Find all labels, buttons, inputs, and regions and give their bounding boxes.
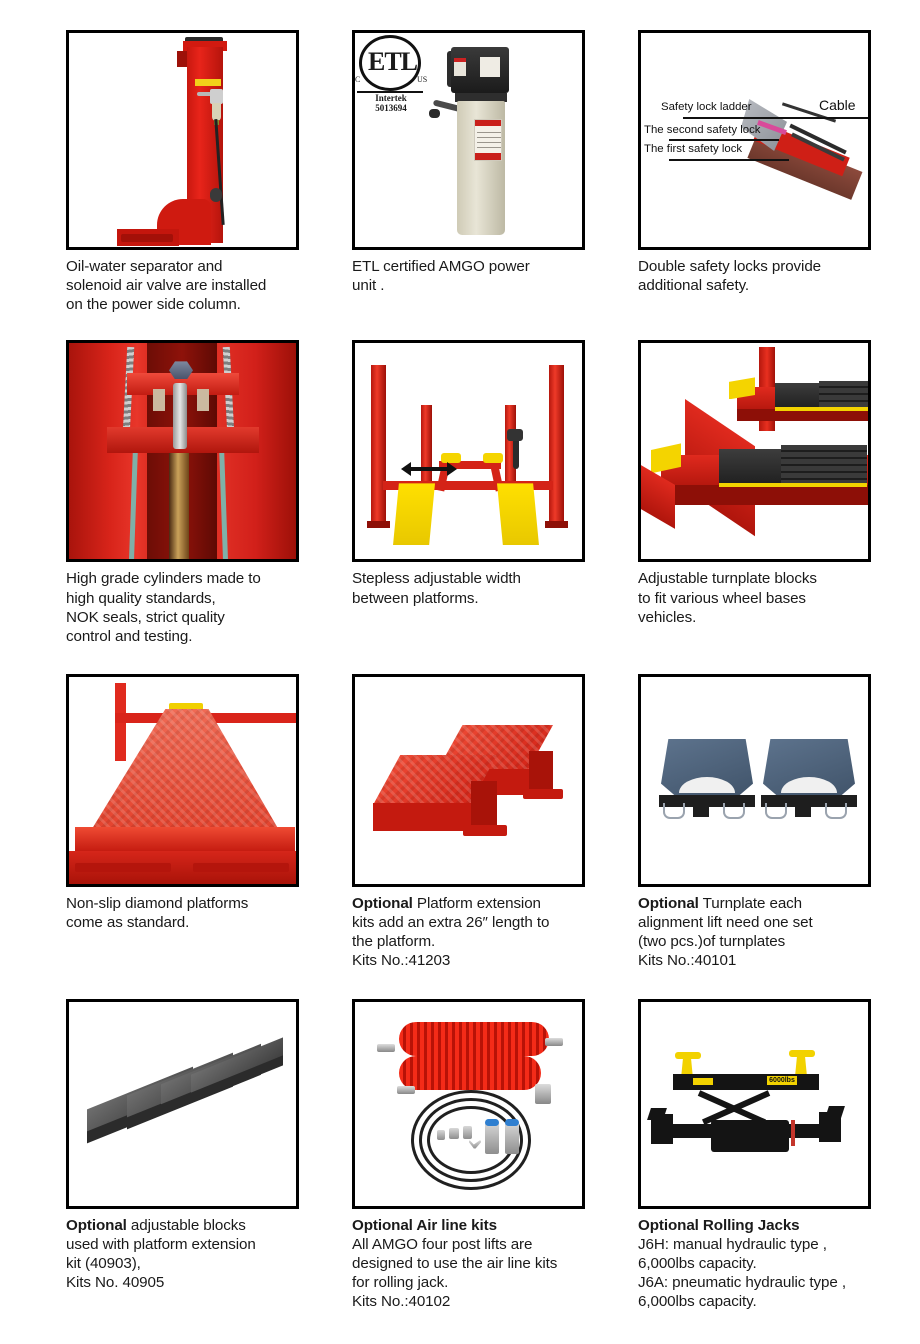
non-slip-diamond-platforms-image (66, 674, 299, 887)
fitting-1 (437, 1130, 445, 1140)
adjustable-turnplate-blocks-image (638, 340, 871, 562)
coiled-air-hose-upper (399, 1022, 549, 1056)
optional-tag: Optional Air line kits (352, 1217, 497, 1234)
caption-etl-power-unit: ETL certified AMGO power unit . (352, 250, 585, 295)
label-cable: Cable (819, 97, 856, 113)
hose-coupler-lower-right (535, 1084, 551, 1104)
approach-pad-rear (819, 381, 871, 407)
optional-tag: Optional (638, 895, 699, 912)
quick-coupler-2-cap (505, 1119, 519, 1126)
oil-water-separator-image (66, 30, 299, 250)
column-foot-detail (121, 234, 173, 242)
turnplate-left-handle (663, 803, 685, 819)
decal-text-line (477, 137, 501, 138)
caption-diamond-platforms: Non-slip diamond platforms come as stand… (66, 887, 299, 932)
leader-line-ladder (683, 117, 805, 119)
turnplate-block-rear (775, 383, 819, 407)
extension-box-front-side (471, 781, 497, 831)
turnplate-left-center-pin (693, 795, 709, 817)
yellow-edge-front (719, 483, 867, 487)
feature-cell-platform-extension-kits: Optional Platform extension kits add an … (352, 674, 585, 971)
caption-stepless-width: Stepless adjustable width between platfo… (352, 562, 585, 607)
caption-oil-water-separator: Oil-water separator and solenoid air val… (66, 250, 299, 314)
release-lever (791, 1120, 795, 1146)
turnplate-right-center-pin (795, 795, 811, 817)
adjustable-blocks-image (66, 999, 299, 1209)
feature-cell-double-safety-locks: Safety lock ladder Cable The second safe… (638, 30, 871, 314)
optional-tag: Optional (352, 895, 413, 912)
turnplates-image (638, 674, 871, 887)
leader-line-second-lock (669, 139, 779, 141)
black-tubing-coil-inner (427, 1106, 515, 1174)
etl-control-number: 5013694 (375, 103, 407, 113)
runway-front-edge (661, 485, 871, 505)
feature-cell-turnplate-blocks: Adjustable turnplate blocks to fit vario… (638, 340, 871, 646)
base-bar-left (75, 863, 171, 872)
caption-rolling-jacks: Optional Rolling JacksJ6H: manual hydrau… (638, 1209, 871, 1312)
post-foot-right (545, 521, 568, 528)
release-knob (429, 109, 440, 118)
valve-block (507, 429, 523, 441)
turnplate-left-handle-2 (723, 803, 745, 819)
caption-text: All AMGO four post lifts are designed to… (352, 1236, 557, 1310)
label-second-safety-lock: The second safety lock (644, 124, 761, 136)
caption-turnplate-blocks: Adjustable turnplate blocks to fit vario… (638, 562, 871, 626)
feature-cell-oil-water-separator: Oil-water separator and solenoid air val… (66, 30, 299, 314)
leader-line-first-lock (669, 159, 789, 161)
turnplate-right-handle-2 (825, 803, 847, 819)
high-grade-cylinders-image (66, 340, 299, 562)
warning-label (195, 79, 221, 86)
separator-body (210, 89, 223, 104)
feature-cell-diamond-platforms: Non-slip diamond platforms come as stand… (66, 674, 299, 971)
hose-coupler-upper-left (377, 1044, 395, 1052)
etl-lab-text: Intertek (375, 93, 407, 103)
fitting-2 (449, 1128, 459, 1139)
double-safety-locks-image: Safety lock ladder Cable The second safe… (638, 30, 871, 250)
caption-text: J6H: manual hydraulic type , 6,000lbs ca… (638, 1236, 846, 1310)
hose-fitting (210, 188, 222, 202)
hose-coupler-lower-left (397, 1086, 415, 1094)
platform-front-face (75, 827, 295, 853)
width-adjust-arrow-right-head (447, 462, 457, 476)
etl-us-mark: US (417, 75, 427, 84)
ramp-left (393, 483, 435, 545)
caption-double-safety-locks: Double safety locks provide additional s… (638, 250, 871, 295)
label-first-safety-lock: The first safety lock (644, 143, 742, 155)
caption-turnplates: Optional Turnplate each alignment lift n… (638, 887, 871, 971)
feature-cell-rolling-jacks: 6000lbs Optional Rolling JacksJ6H: manua… (638, 999, 871, 1312)
decal-text-line (477, 147, 501, 148)
etl-certification-logo: ETL C US Intertek 5013694 (355, 33, 433, 109)
feature-cell-turnplates: Optional Turnplate each alignment lift n… (638, 674, 871, 971)
quick-coupler-1-cap (485, 1119, 499, 1126)
base-bar-right (193, 863, 289, 872)
decal-text-line (477, 142, 501, 143)
caption-platform-extension-kits: Optional Platform extension kits add an … (352, 887, 585, 971)
model-label (693, 1078, 713, 1085)
decal-footer-bar (475, 153, 501, 160)
etl-lab-name: Intertek 5013694 (359, 93, 423, 114)
motor-warning-label (454, 58, 466, 76)
caption-air-line-kits: Optional Air line kitsAll AMGO four post… (352, 1209, 585, 1312)
extension-box-front-face (373, 803, 471, 831)
extension-box-front-tab (463, 825, 507, 836)
label-safety-lock-ladder: Safety lock ladder (661, 101, 752, 113)
hose-coupler-upper-right (545, 1038, 563, 1046)
stepless-adjustable-width-image (352, 340, 585, 562)
danger-decal (474, 119, 502, 161)
optional-tag: Optional Rolling Jacks (638, 1217, 800, 1234)
cable-clip-left (153, 389, 165, 411)
roller-right (825, 1106, 845, 1118)
cylinder-shaft (169, 447, 189, 562)
ramp-right (497, 483, 539, 545)
fitting-3 (463, 1126, 472, 1139)
turnplate-block-front (719, 449, 781, 483)
feature-sheet: Oil-water separator and solenoid air val… (0, 0, 920, 1344)
optional-tag: Optional (66, 1217, 127, 1234)
cable-clip-right (197, 389, 209, 411)
cylinder-rod (173, 383, 187, 449)
extension-box-rear-tab (523, 789, 563, 799)
yellow-edge-rear (775, 407, 871, 411)
feature-cell-etl-power-unit: ETL C US Intertek 5013694 (352, 30, 585, 314)
quick-coupler-1 (485, 1122, 499, 1154)
feature-cell-adjustable-blocks: Optional adjustable blocks used with pla… (66, 999, 299, 1312)
decal-text-line (477, 132, 501, 133)
feature-cell-stepless-width: Stepless adjustable width between platfo… (352, 340, 585, 646)
decal-header-bar (475, 120, 501, 126)
lift-post-outer-left (371, 365, 386, 525)
width-adjust-arrow-left-head (401, 462, 411, 476)
platform-extension-kits-image (352, 674, 585, 887)
approach-pad-front (781, 445, 867, 483)
lift-post-inner-left (421, 405, 432, 493)
capacity-badge: 6000lbs (767, 1076, 797, 1085)
lift-post-outer-right (549, 365, 564, 525)
motor-spec-plate (480, 57, 500, 77)
feature-cell-air-line-kits: Optional Air line kitsAll AMGO four post… (352, 999, 585, 1312)
feature-cell-high-grade-cylinders: High grade cylinders made to high qualit… (66, 340, 299, 646)
rolling-jacks-image: 6000lbs (638, 999, 871, 1209)
turnplate-right-handle (765, 803, 787, 819)
etl-mark-text: ETL (368, 47, 417, 77)
air-line-kits-image (352, 999, 585, 1209)
quick-coupler-2 (505, 1122, 519, 1154)
caption-adjustable-blocks: Optional adjustable blocks used with pla… (66, 1209, 299, 1293)
feature-grid: Oil-water separator and solenoid air val… (66, 30, 864, 1311)
post-foot-left (367, 521, 390, 528)
width-adjust-arrow-shaft (407, 467, 449, 471)
leader-line-cable (789, 117, 869, 119)
hydraulic-cylinder (711, 1120, 789, 1152)
caption-high-grade-cylinders: High grade cylinders made to high qualit… (66, 562, 299, 646)
coiled-air-hose-lower (399, 1056, 541, 1090)
etl-c-mark: C (355, 75, 360, 84)
stop-block-right (483, 453, 503, 463)
etl-power-unit-image: ETL C US Intertek 5013694 (352, 30, 585, 250)
